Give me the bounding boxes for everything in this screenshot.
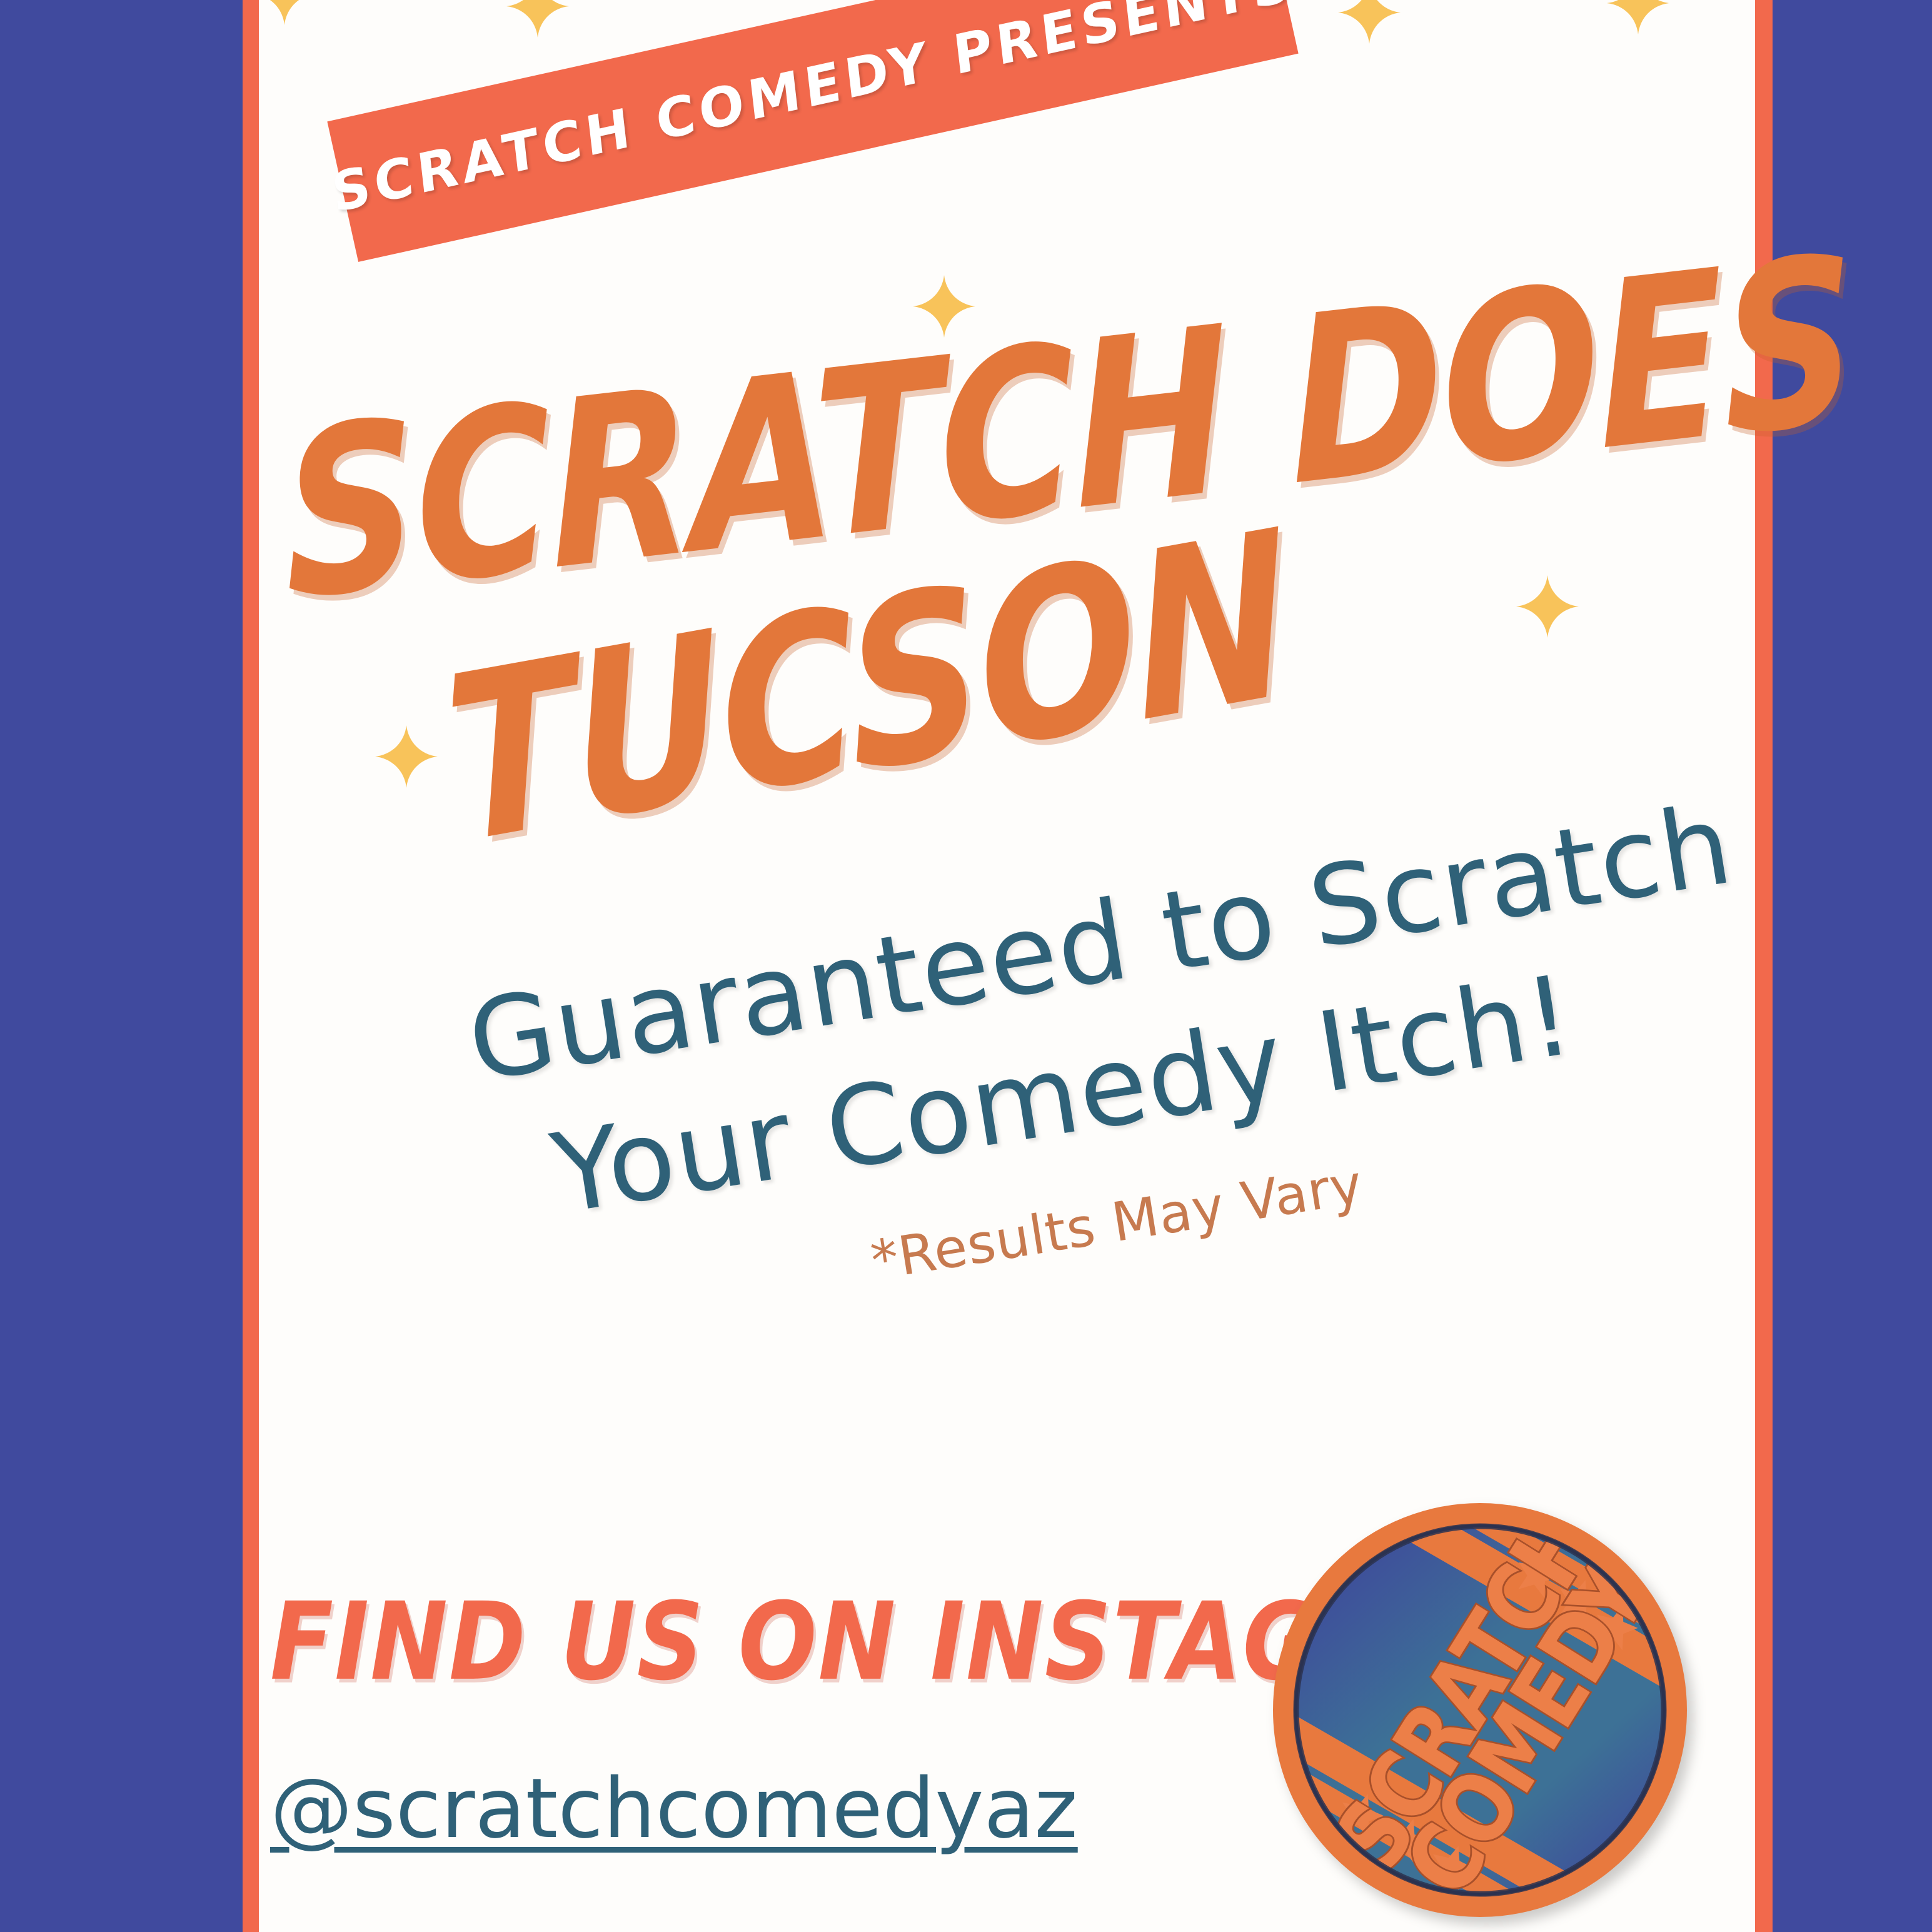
- presents-banner: SCRATCH COMEDY PRESENTS: [327, 0, 1298, 262]
- scratch-comedy-logo: SCRATCH COMEDY: [1264, 1494, 1696, 1926]
- presents-banner-label: SCRATCH COMEDY PRESENTS: [328, 0, 1297, 225]
- poster-canvas: SCRATCH COMEDY PRESENTS SCRATCH DOES TUC…: [0, 0, 1932, 1932]
- left-border-stripe: [243, 0, 259, 1932]
- instagram-handle-link[interactable]: @scratchcomedyaz: [270, 1761, 1078, 1857]
- sparkle-icon: [1338, 0, 1501, 206]
- sparkle-icon: [1607, 0, 1748, 159]
- left-border: [0, 0, 243, 1932]
